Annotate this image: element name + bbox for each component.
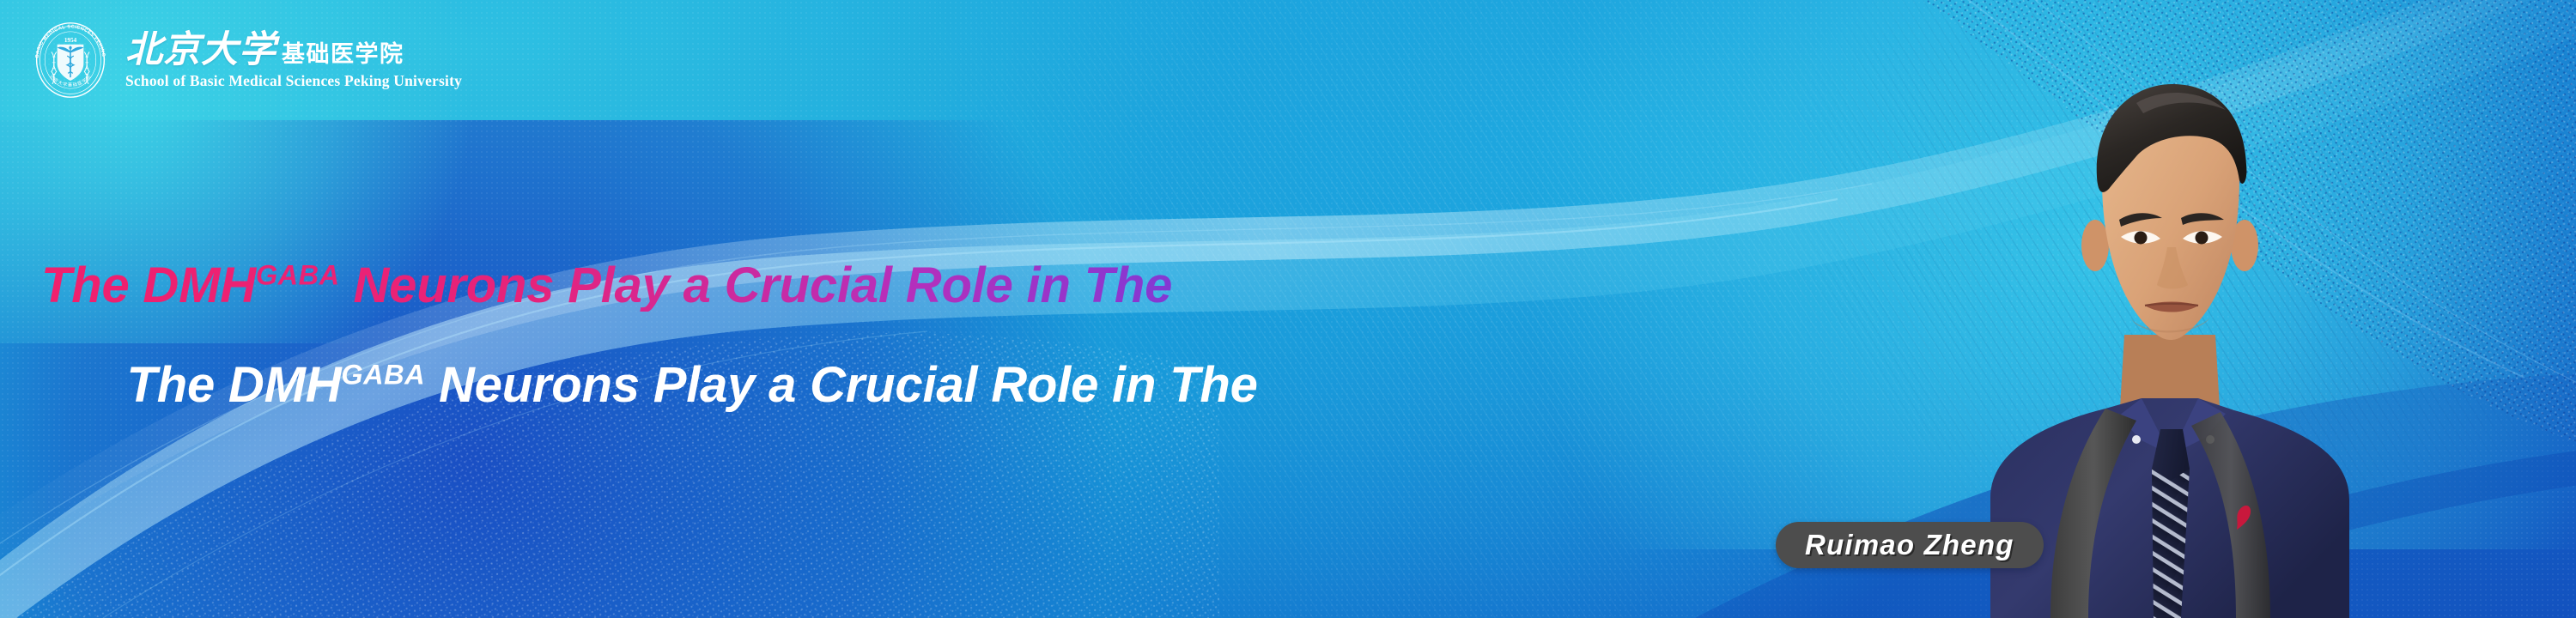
- institution-logo: SCHOOL OF BASIC MEDICAL SCIENCES PEKING …: [29, 19, 462, 101]
- wordmark-chinese-secondary: 基础医学院: [282, 43, 404, 66]
- svg-text:1954: 1954: [64, 37, 77, 44]
- institution-wordmark: 北京大学 基础医学院 School of Basic Medical Scien…: [125, 30, 462, 90]
- university-seal-icon: SCHOOL OF BASIC MEDICAL SCIENCES PEKING …: [29, 19, 112, 101]
- presentation-title: The DMHGABA Neurons Play a Crucial Role …: [45, 103, 1436, 618]
- wordmark-chinese-row: 北京大学 基础医学院: [125, 32, 462, 69]
- title-line-1-text: The DMHGABA Neurons Play a Crucial Role …: [127, 357, 1258, 413]
- wordmark-chinese-primary: 北京大学: [125, 32, 276, 69]
- speaker-name-label: Ruimao Zheng: [1805, 529, 2014, 561]
- title-superscript-gaba: GABA: [341, 359, 425, 390]
- conference-speaker-banner: SCHOOL OF BASIC MEDICAL SCIENCES PEKING …: [0, 0, 2576, 618]
- collar-button-left: [2132, 435, 2141, 444]
- speaker-name-badge: Ruimao Zheng: [1776, 522, 2044, 568]
- title-line-1-shadow: The DMHGABA Neurons Play a Crucial Role …: [41, 260, 1432, 312]
- wordmark-english: School of Basic Medical Sciences Peking …: [125, 72, 462, 90]
- title-line-1: The DMHGABA Neurons Play a Crucial Role …: [45, 257, 1436, 462]
